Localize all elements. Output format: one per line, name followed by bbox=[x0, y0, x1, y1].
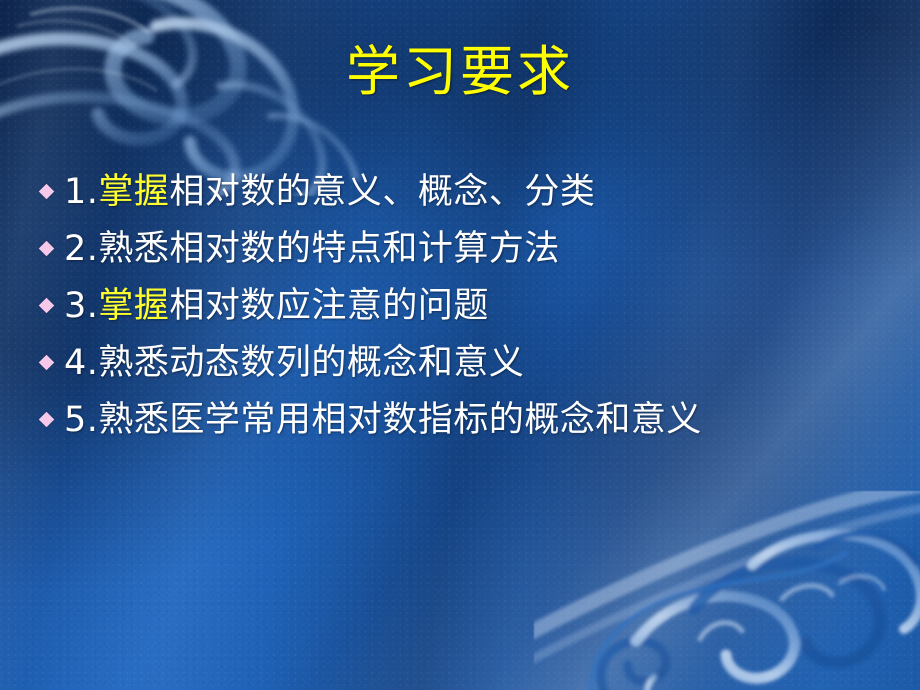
bullet-item-3: 3.掌握相对数应注意的问题 bbox=[38, 277, 898, 334]
diamond-bullet-icon bbox=[38, 414, 64, 425]
diamond-bullet-icon bbox=[38, 357, 64, 368]
bullet-item-2-rest: 熟悉相对数的特点和计算方法 bbox=[98, 229, 560, 269]
bullet-item-5-number: 5. bbox=[64, 400, 98, 440]
diamond-bullet-icon bbox=[38, 243, 64, 254]
bullet-item-2: 2.熟悉相对数的特点和计算方法 bbox=[38, 220, 898, 277]
slide-title: 学习要求 bbox=[0, 40, 920, 104]
bullet-item-4: 4.熟悉动态数列的概念和意义 bbox=[38, 334, 898, 391]
bullet-item-3-text: 3.掌握相对数应注意的问题 bbox=[64, 285, 489, 327]
bullet-item-4-text: 4.熟悉动态数列的概念和意义 bbox=[64, 342, 524, 384]
bullet-item-5-rest: 熟悉医学常用相对数指标的概念和意义 bbox=[98, 400, 702, 440]
bullet-item-2-number: 2. bbox=[64, 229, 98, 269]
bullet-item-1-number: 1. bbox=[64, 172, 98, 212]
presentation-slide: 学习要求 1.掌握相对数的意义、概念、分类 2.熟悉相对数的特点和计算方法 3.… bbox=[0, 0, 920, 690]
bullet-item-5-text: 5.熟悉医学常用相对数指标的概念和意义 bbox=[64, 399, 702, 441]
diamond-bullet-icon bbox=[38, 300, 64, 311]
bullet-item-1-highlight: 掌握 bbox=[98, 172, 169, 212]
bullet-item-2-text: 2.熟悉相对数的特点和计算方法 bbox=[64, 228, 560, 270]
bullet-item-1-rest: 相对数的意义、概念、分类 bbox=[169, 172, 595, 212]
bullet-item-5: 5.熟悉医学常用相对数指标的概念和意义 bbox=[38, 391, 898, 448]
bullet-item-4-number: 4. bbox=[64, 343, 98, 383]
bullet-item-3-highlight: 掌握 bbox=[98, 286, 169, 326]
diamond-bullet-icon bbox=[38, 186, 64, 197]
bullet-item-3-number: 3. bbox=[64, 286, 98, 326]
bullet-item-4-rest: 熟悉动态数列的概念和意义 bbox=[98, 343, 524, 383]
bullet-item-1: 1.掌握相对数的意义、概念、分类 bbox=[38, 163, 898, 220]
bullet-list: 1.掌握相对数的意义、概念、分类 2.熟悉相对数的特点和计算方法 3.掌握相对数… bbox=[38, 163, 898, 448]
bullet-item-1-text: 1.掌握相对数的意义、概念、分类 bbox=[64, 171, 595, 213]
filigree-ornament-bottom-right bbox=[534, 491, 920, 690]
bullet-item-3-rest: 相对数应注意的问题 bbox=[169, 286, 489, 326]
